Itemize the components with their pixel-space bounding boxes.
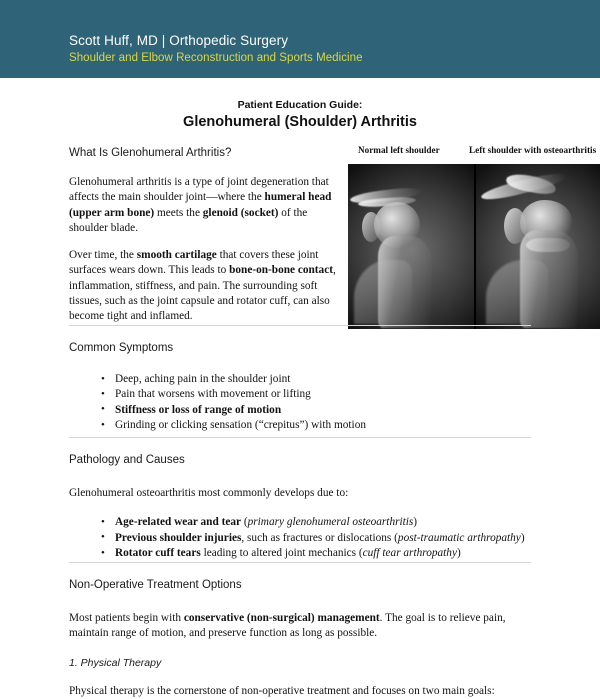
list-item: Previous shoulder injuries, such as frac… — [115, 531, 531, 546]
list-item: Stiffness or loss of range of motion — [115, 403, 531, 418]
intro-paragraph-2: Over time, the smooth cartilage that cov… — [69, 248, 342, 324]
treatment-subsection-heading: 1. Physical Therapy — [69, 656, 531, 670]
symptoms-heading: Common Symptoms — [69, 340, 531, 356]
document-page: Patient Education Guide: Glenohumeral (S… — [0, 78, 600, 697]
practice-title: Scott Huff, MD | Orthopedic Surgery — [69, 32, 363, 49]
document-eyebrow: Patient Education Guide: — [0, 98, 600, 112]
ribcage-shadow — [486, 260, 548, 324]
xray-figure: Normal left shoulder Left shoulder with … — [348, 145, 600, 329]
ribcage-shadow — [354, 260, 412, 324]
xray-image-normal — [348, 164, 474, 329]
pathology-section: Pathology and Causes Glenohumeral osteoa… — [69, 437, 531, 562]
list-item: Pain that worsens with movement or lifti… — [115, 387, 531, 402]
intro-paragraph-1: Glenohumeral arthritis is a type of join… — [69, 175, 342, 236]
symptoms-section: Common Symptoms Deep, aching pain in the… — [69, 325, 531, 434]
list-item: Rotator cuff tears leading to altered jo… — [115, 546, 531, 561]
practice-subtitle: Shoulder and Elbow Reconstruction and Sp… — [69, 50, 363, 66]
treatment-lead: Most patients begin with conservative (n… — [69, 611, 531, 642]
list-item: Deep, aching pain in the shoulder joint — [115, 372, 531, 387]
xray-image-osteoarthritis — [474, 164, 600, 329]
banner-text-block: Scott Huff, MD | Orthopedic Surgery Shou… — [69, 32, 363, 66]
list-item: Age-related wear and tear (primary gleno… — [115, 515, 531, 530]
xray-caption-osteoarthritis: Left shoulder with osteoarthritis — [469, 145, 596, 155]
pathology-list: Age-related wear and tear (primary gleno… — [69, 515, 531, 561]
list-item: Grinding or clicking sensation (“crepitu… — [115, 418, 531, 433]
treatment-section: Non-Operative Treatment Options Most pat… — [69, 562, 531, 699]
pathology-lead: Glenohumeral osteoarthritis most commonl… — [69, 486, 531, 501]
treatment-heading: Non-Operative Treatment Options — [69, 577, 531, 593]
page-title: Glenohumeral (Shoulder) Arthritis — [0, 113, 600, 132]
intro-section: What Is Glenohumeral Arthritis? Glenohum… — [0, 145, 600, 330]
symptoms-list: Deep, aching pain in the shoulder jointP… — [69, 372, 531, 434]
intro-heading: What Is Glenohumeral Arthritis? — [69, 145, 342, 161]
pathology-heading: Pathology and Causes — [69, 452, 531, 468]
xray-caption-row: Normal left shoulder Left shoulder with … — [348, 145, 600, 161]
site-header-banner: Scott Huff, MD | Orthopedic Surgery Shou… — [0, 0, 600, 78]
intro-text-column: What Is Glenohumeral Arthritis? Glenohum… — [69, 145, 342, 325]
xray-caption-normal: Normal left shoulder — [358, 145, 440, 155]
document-title-block: Patient Education Guide: Glenohumeral (S… — [0, 98, 600, 132]
xray-image-pair — [348, 164, 600, 329]
